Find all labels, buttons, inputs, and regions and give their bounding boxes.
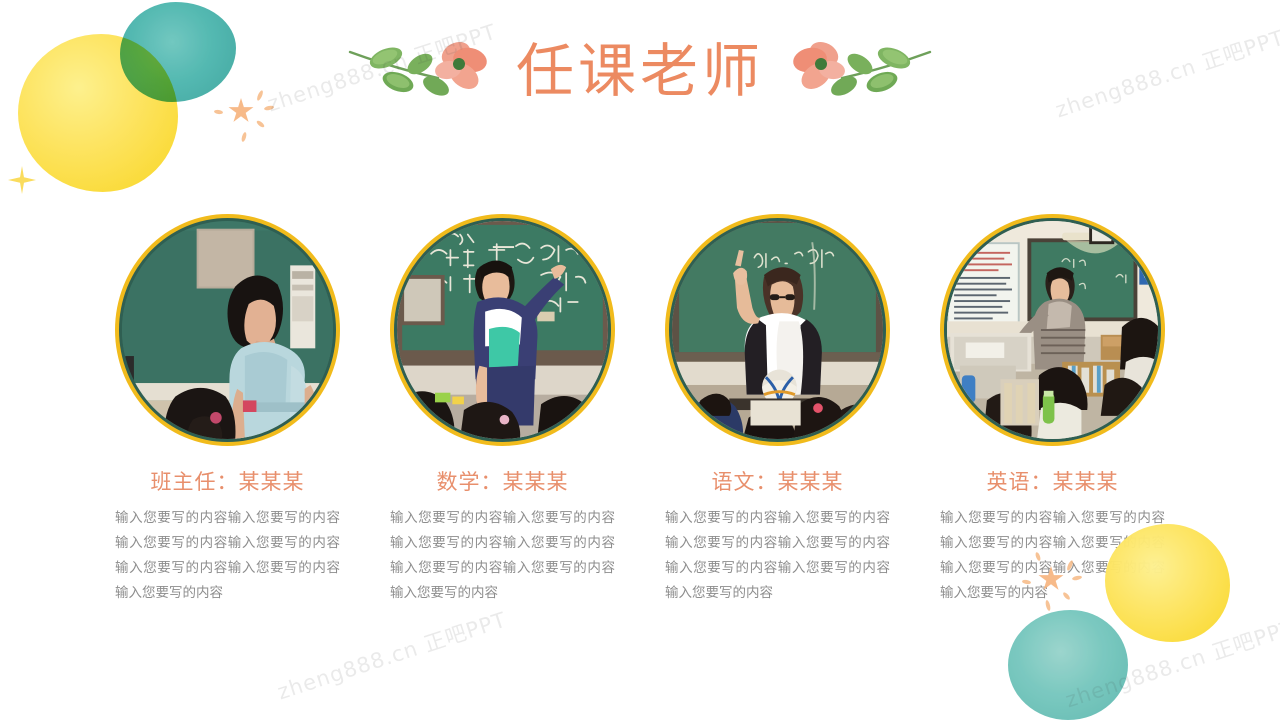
teacher-card-body: 输入您要写的内容输入您要写的内容输入您要写的内容输入您要写的内容输入您要写的内容…: [665, 506, 890, 606]
teacher-card-title: 班主任：某某某: [151, 466, 305, 496]
watercolor-circle-teal-bottomright: [1008, 610, 1128, 720]
photo-ring[interactable]: G: [940, 214, 1165, 446]
teacher-card[interactable]: 数学：某某某 输入您要写的内容输入您要写的内容输入您要写的内容输入您要写的内容输…: [390, 214, 615, 606]
photo-ring[interactable]: [390, 214, 615, 446]
teacher-photo-homeroom: [122, 221, 333, 439]
teacher-photo-math: [397, 221, 608, 439]
flower-sprig-left-icon: [342, 34, 492, 108]
teacher-card[interactable]: G: [940, 214, 1165, 606]
watermark: zheng888.cn 正吧PPT: [1061, 612, 1280, 714]
teacher-photo-chinese: [672, 221, 883, 439]
yellow-star-icon-topleft: [8, 166, 36, 194]
teacher-card[interactable]: 语文：某某某 输入您要写的内容输入您要写的内容输入您要写的内容输入您要写的内容输…: [665, 214, 890, 606]
teacher-card-title: 英语：某某某: [987, 466, 1119, 496]
burst-ray: [256, 120, 266, 129]
title-row: 任课老师: [0, 28, 1280, 114]
teacher-card-title: 语文：某某某: [712, 466, 844, 496]
svg-text:G: G: [1143, 268, 1152, 282]
watermark: zheng888.cn 正吧PPT: [273, 604, 510, 706]
page-title: 任课老师: [516, 42, 764, 100]
teacher-card-list: 班主任：某某某 输入您要写的内容输入您要写的内容输入您要写的内容输入您要写的内容…: [0, 214, 1280, 606]
slide-canvas: 任课老师: [0, 0, 1280, 720]
photo-ring[interactable]: [665, 214, 890, 446]
teacher-card-title: 数学：某某某: [437, 466, 569, 496]
teacher-card[interactable]: 班主任：某某某 输入您要写的内容输入您要写的内容输入您要写的内容输入您要写的内容…: [115, 214, 340, 606]
teacher-card-body: 输入您要写的内容输入您要写的内容输入您要写的内容输入您要写的内容输入您要写的内容…: [940, 506, 1165, 606]
photo-ring[interactable]: [115, 214, 340, 446]
teacher-card-body: 输入您要写的内容输入您要写的内容输入您要写的内容输入您要写的内容输入您要写的内容…: [115, 506, 340, 606]
flower-sprig-right-icon: [788, 34, 938, 108]
teacher-photo-english: G: [947, 221, 1158, 439]
teacher-card-body: 输入您要写的内容输入您要写的内容输入您要写的内容输入您要写的内容输入您要写的内容…: [390, 506, 615, 606]
burst-ray: [241, 132, 248, 143]
